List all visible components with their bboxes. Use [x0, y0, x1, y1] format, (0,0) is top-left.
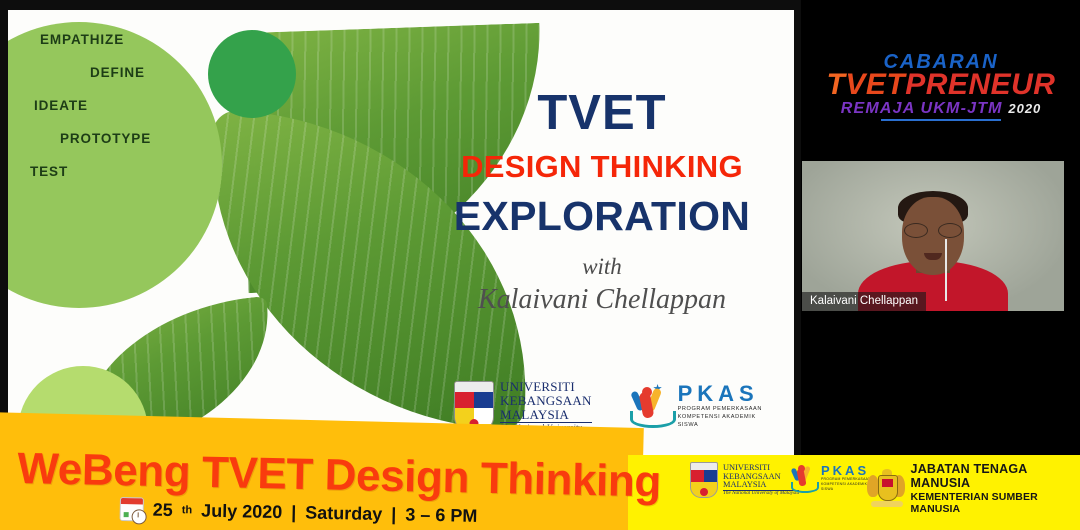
stage-item-empathize: EMPATHIZE [40, 32, 208, 47]
ukm-crest-icon-small [690, 462, 718, 498]
date-separator-2: | [391, 504, 396, 525]
slide-title-tvet: TVET [416, 88, 788, 139]
webinar-logo-preneur: PRENEUR [905, 68, 1055, 101]
event-date-day: 25 [153, 499, 173, 520]
pkas-logo-text: PKAS program pemerkasaan kompetensi akad… [678, 383, 762, 429]
webinar-logo: CABARAN TVETPRENEUR REMAJA UKM-JTM 2020 [806, 52, 1076, 121]
webinar-logo-main: TVETPRENEUR [806, 70, 1076, 100]
sponsor-pkas: PKAS program pemerkasaan kompetensi akad… [790, 462, 871, 494]
stage-item-test: TEST [30, 164, 208, 179]
stage-item-define: DEFINE [90, 65, 208, 80]
webinar-logo-underline [881, 119, 1001, 121]
sponsor-jtm-text: JABATAN TENAGA MANUSIA KEMENTERIAN SUMBE… [911, 462, 1080, 515]
slide-with-label: with [416, 254, 788, 280]
pkas-sub2: kompetensi akademik [678, 413, 762, 421]
webinar-logo-t: T [827, 68, 846, 101]
event-time: 3 – 6 PM [405, 504, 477, 526]
sponsor-ukm-tagline: The National University of Malaysia [723, 490, 799, 496]
webinar-logo-vet: VET [845, 68, 905, 101]
sponsor-ukm-line3: MALAYSIA [723, 481, 799, 490]
design-thinking-stage-list: EMPATHIZE DEFINE IDEATE PROTOTYPE TEST [8, 32, 208, 197]
sponsor-jtm-line2: KEMENTERIAN SUMBER MANUSIA [911, 491, 1080, 515]
event-date-rest: July 2020 [201, 500, 282, 523]
slide-title-block: TVET DESIGN THINKING EXPLORATION with Ka… [416, 88, 788, 316]
pkas-figure-icon: ★ [628, 382, 672, 430]
pkas-logo: ★ PKAS program pemerkasaan kompetensi ak… [628, 382, 762, 430]
video-tile-participant[interactable]: Kalaivani Chellappan [802, 161, 1064, 311]
video-participant-name: Kalaivani Chellappan [802, 292, 926, 311]
earphone-cord [945, 239, 947, 301]
ukm-line3: MALAYSIA [500, 408, 592, 422]
sponsor-ukm-text: UNIVERSITI KEBANGSAAN MALAYSIA The Natio… [723, 464, 799, 496]
calendar-clock-icon [120, 497, 144, 521]
slide-presenter-name: Kalaivani Chellappan [416, 284, 788, 316]
presentation-slide: EMPATHIZE DEFINE IDEATE PROTOTYPE TEST T… [8, 10, 794, 460]
participant-glasses [904, 223, 962, 236]
sponsor-pkas-acronym: PKAS [821, 464, 871, 477]
shared-screen-area: EMPATHIZE DEFINE IDEATE PROTOTYPE TEST T… [0, 0, 801, 463]
stage-item-ideate: IDEATE [34, 98, 208, 113]
date-separator-1: | [291, 502, 296, 523]
stage-item-prototype: PROTOTYPE [60, 131, 208, 146]
slide-title-design-thinking: DESIGN THINKING [416, 149, 788, 185]
webinar-logo-year: 2020 [1008, 101, 1041, 116]
sponsor-ukm: UNIVERSITI KEBANGSAAN MALAYSIA The Natio… [690, 462, 799, 498]
sponsor-jtm: JABATAN TENAGA MANUSIA KEMENTERIAN SUMBE… [866, 462, 1080, 515]
sponsor-pkas-text: PKAS program pemerkasaan kompetensi akad… [821, 464, 871, 492]
event-date-suffix: th [182, 504, 193, 516]
slide-title-exploration: EXPLORATION [416, 193, 788, 240]
pkas-sub1: program pemerkasaan [678, 405, 762, 413]
ukm-line2: KEBANGSAAN [500, 394, 592, 408]
event-weekday: Saturday [305, 502, 382, 524]
pkas-sub3: siswa [678, 421, 762, 429]
screen: EMPATHIZE DEFINE IDEATE PROTOTYPE TEST T… [0, 0, 1080, 530]
webinar-logo-remaja: REMAJA UKM-JTM 2020 [806, 101, 1076, 117]
webinar-logo-remaja-text: REMAJA UKM-JTM [841, 100, 1003, 117]
jata-negara-icon [866, 469, 906, 507]
pkas-figure-icon-small [790, 462, 816, 494]
ukm-line1: UNIVERSITI [500, 380, 592, 394]
pkas-acronym: PKAS [678, 383, 762, 405]
sponsor-pkas-sub3: siswa [821, 487, 871, 492]
sponsor-jtm-line1: JABATAN TENAGA MANUSIA [911, 462, 1080, 491]
accent-circle-dark-green [208, 30, 296, 118]
